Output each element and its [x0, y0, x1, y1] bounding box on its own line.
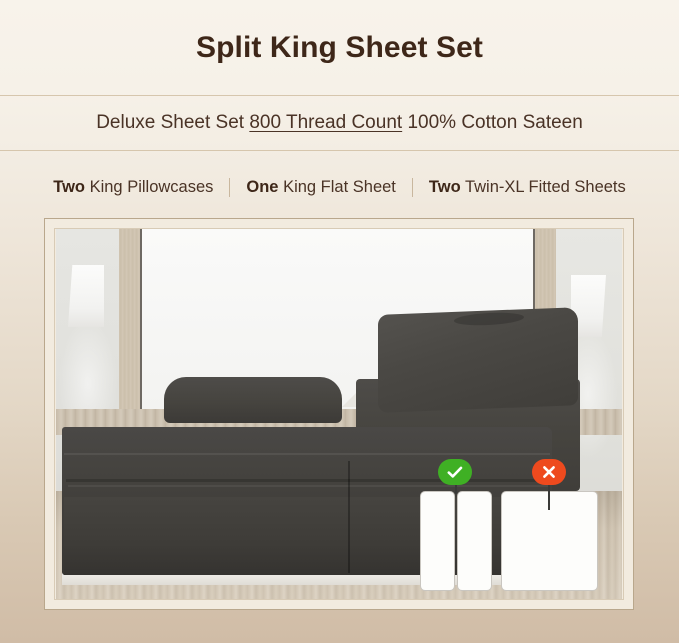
sheet-crease: [66, 479, 548, 482]
subtitle-row: Deluxe Sheet Set 800 Thread Count 100% C…: [0, 96, 679, 150]
subtitle-suffix: 100% Cotton Sateen: [402, 112, 583, 133]
content-qty: Two: [53, 178, 85, 196]
contents-row: Two King Pillowcases One King Flat Sheet…: [0, 168, 679, 206]
title-row: Split King Sheet Set: [0, 0, 679, 95]
content-qty: Two: [429, 178, 461, 196]
divider-bottom: [0, 150, 679, 151]
mattress-split-line: [348, 461, 350, 573]
sheet-crease: [68, 485, 548, 487]
content-item-fitted-sheets: Two Twin-XL Fitted Sheets: [429, 178, 626, 197]
page-title: Split King Sheet Set: [196, 31, 483, 65]
subtitle-thread-count: 800 Thread Count: [249, 112, 402, 133]
product-photo: [56, 229, 622, 599]
mattress-side-edge: [64, 497, 552, 575]
content-label: King Flat Sheet: [278, 178, 395, 196]
subtitle: Deluxe Sheet Set 800 Thread Count 100% C…: [96, 112, 583, 134]
content-separator: [229, 178, 230, 197]
sheet-crease: [64, 453, 550, 455]
content-qty: One: [246, 178, 278, 196]
content-item-pillowcases: Two King Pillowcases: [53, 178, 213, 197]
product-infographic: Split King Sheet Set Deluxe Sheet Set 80…: [0, 0, 679, 643]
subtitle-prefix: Deluxe Sheet Set: [96, 112, 249, 133]
wall-lamp-left: [68, 265, 104, 327]
content-item-flat-sheet: One King Flat Sheet: [246, 178, 396, 197]
content-separator: [412, 178, 413, 197]
content-label: Twin-XL Fitted Sheets: [461, 178, 626, 196]
product-photo-frame: [44, 218, 634, 610]
king-pillow-left: [164, 377, 342, 423]
content-label: King Pillowcases: [85, 178, 213, 196]
